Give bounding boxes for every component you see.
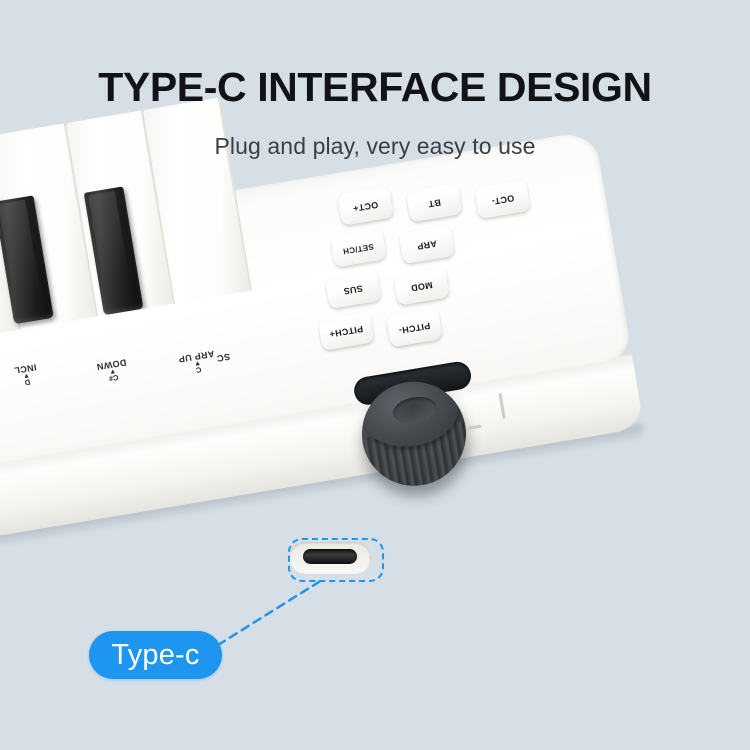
page-subtitle: Plug and play, very easy to use [0, 111, 750, 160]
button-bluetooth[interactable]: BT [406, 183, 462, 222]
button-label: MOD [410, 279, 433, 292]
button-label: PITCH- [398, 320, 431, 335]
type-c-badge-label: Type-c [111, 641, 199, 670]
type-c-badge: Type-c [89, 631, 222, 679]
button-octave-down[interactable]: OCT- [474, 180, 530, 219]
button-label: OCT+ [352, 199, 379, 213]
product-marketing-image: TYPE-C INTERFACE DESIGN Plug and play, v… [0, 0, 750, 750]
button-arpeggiator[interactable]: ARP [399, 225, 455, 264]
knob-dimple [391, 394, 439, 427]
button-label: OCT- [490, 193, 514, 207]
button-modulation[interactable]: MOD [393, 266, 449, 305]
button-label: PITCH+ [328, 323, 363, 338]
button-label: BT [427, 197, 441, 209]
button-label: SUS [343, 283, 364, 296]
button-label: SET/CH [342, 241, 374, 254]
button-pitch-down[interactable]: PITCH- [386, 308, 442, 347]
button-label: ARP [416, 238, 437, 251]
port-highlight-box [288, 538, 384, 582]
button-octave-up[interactable]: OCT+ [338, 187, 394, 226]
device-photo: F ▼ ORDER E ▼ RAND D# ▼ EXCL D ▼ INCL C# [0, 190, 750, 660]
page-title: TYPE-C INTERFACE DESIGN [0, 0, 750, 111]
header: TYPE-C INTERFACE DESIGN Plug and play, v… [0, 0, 750, 160]
